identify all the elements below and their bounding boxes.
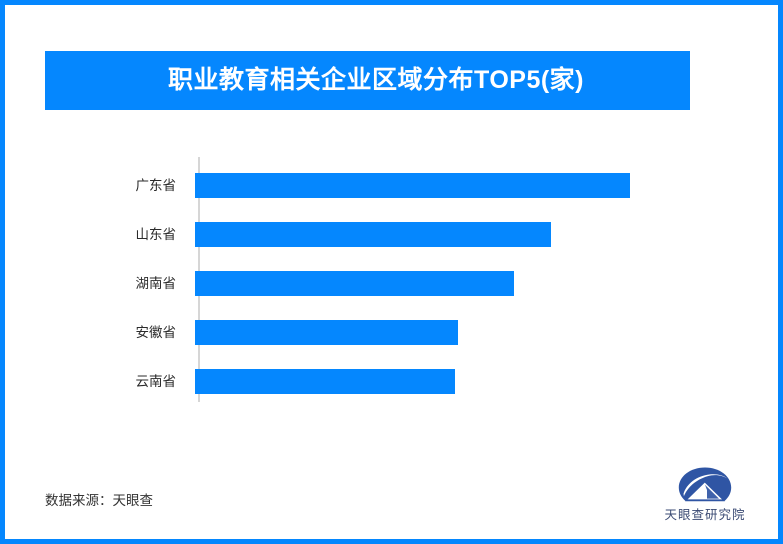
bar-value-广东省 — [195, 173, 630, 198]
bar-track — [193, 173, 735, 198]
bar-row: 广东省 — [45, 173, 735, 198]
bar-category-label: 山东省 — [45, 222, 193, 247]
frame-border-bottom — [0, 539, 783, 544]
bar-value-安徽省 — [195, 320, 458, 345]
tianyancha-arch-eye-logo-icon — [677, 466, 733, 506]
bar-category-label: 云南省 — [45, 369, 193, 394]
bar-value-云南省 — [195, 369, 455, 394]
bar-chart: 广东省 山东省 湖南省 安徽省 云南省 — [45, 140, 735, 415]
bar-category-label: 广东省 — [45, 173, 193, 198]
page-title: 职业教育相关企业区域分布TOP5(家) — [168, 68, 584, 93]
brand-logo: 天眼查研究院 — [655, 466, 755, 528]
bar-track — [193, 320, 735, 345]
frame-border-left — [0, 0, 5, 544]
bar-row: 云南省 — [45, 369, 735, 394]
bar-track — [193, 271, 735, 296]
brand-name-label: 天眼查研究院 — [664, 508, 745, 523]
bar-track — [193, 369, 735, 394]
bar-row: 山东省 — [45, 222, 735, 247]
bar-row: 湖南省 — [45, 271, 735, 296]
bar-category-label: 湖南省 — [45, 271, 193, 296]
bar-row: 安徽省 — [45, 320, 735, 345]
title-banner: 职业教育相关企业区域分布TOP5(家) — [45, 51, 690, 110]
bar-category-label: 安徽省 — [45, 320, 193, 345]
frame-border-right — [778, 0, 783, 544]
data-source-note: 数据来源：天眼查 — [45, 489, 153, 509]
infographic-canvas: 职业教育相关企业区域分布TOP5(家) 广东省 山东省 湖南省 安徽省 — [0, 0, 783, 544]
bar-value-湖南省 — [195, 271, 514, 296]
bar-track — [193, 222, 735, 247]
bar-value-山东省 — [195, 222, 551, 247]
frame-border-top — [0, 0, 783, 5]
